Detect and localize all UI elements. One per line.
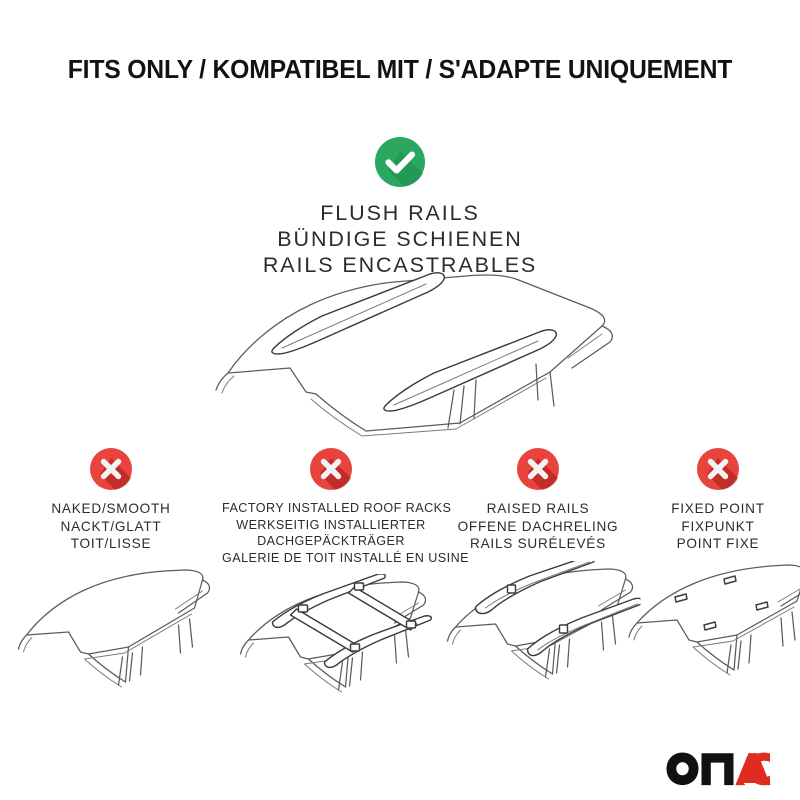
check-circle-icon: [374, 136, 426, 188]
option-label-en: NAKED/SMOOTH: [0, 500, 222, 518]
car-roof-fixed-point-illustration: [636, 561, 800, 693]
car-roof-naked-illustration: [0, 561, 222, 693]
option-label-fr: TOIT/LISSE: [0, 535, 222, 553]
option-labels: FACTORY INSTALLED ROOF RACKS WERKSEITIG …: [222, 500, 440, 566]
option-fixed-point: FIXED POINT FIXPUNKT POINT FIXE: [636, 447, 800, 693]
incompatible-options-grid: NAKED/SMOOTH NACKT/GLATT TOIT/LISSE: [0, 447, 800, 706]
x-circle-icon: [516, 447, 560, 491]
option-label-en: FIXED POINT: [636, 500, 800, 518]
x-circle-icon: [696, 447, 740, 491]
option-naked-smooth: NAKED/SMOOTH NACKT/GLATT TOIT/LISSE: [0, 447, 222, 693]
page-title: FITS ONLY / KOMPATIBEL MIT / S'ADAPTE UN…: [12, 56, 788, 85]
option-label-de: NACKT/GLATT: [0, 518, 222, 536]
option-label-fr: RAILS SURÉLEVÉS: [440, 535, 636, 553]
option-labels: FIXED POINT FIXPUNKT POINT FIXE: [636, 500, 800, 553]
omac-logo: [666, 752, 772, 786]
option-label-de-1: WERKSEITIG INSTALLIERTER: [222, 517, 440, 534]
car-roof-factory-racks-illustration: [222, 574, 440, 706]
compatible-label-de: BÜNDIGE SCHIENEN: [0, 226, 800, 252]
compatible-section: FLUSH RAILS BÜNDIGE SCHIENEN RAILS ENCAS…: [0, 136, 800, 278]
car-roof-flush-rails-illustration: [198, 268, 618, 443]
option-labels: RAISED RAILS OFFENE DACHRELING RAILS SUR…: [440, 500, 636, 553]
option-label-en: RAISED RAILS: [440, 500, 636, 518]
option-factory-installed-roof-racks: FACTORY INSTALLED ROOF RACKS WERKSEITIG …: [222, 447, 440, 706]
option-label-en: FACTORY INSTALLED ROOF RACKS: [222, 500, 440, 517]
x-circle-icon: [309, 447, 353, 491]
option-raised-rails: RAISED RAILS OFFENE DACHRELING RAILS SUR…: [440, 447, 636, 693]
option-label-fr: POINT FIXE: [636, 535, 800, 553]
compatible-label-en: FLUSH RAILS: [0, 200, 800, 226]
option-label-fr: GALERIE DE TOIT INSTALLÉ EN USINE: [222, 550, 440, 567]
compatible-labels: FLUSH RAILS BÜNDIGE SCHIENEN RAILS ENCAS…: [0, 200, 800, 278]
option-label-de: OFFENE DACHRELING: [440, 518, 636, 536]
x-circle-icon: [89, 447, 133, 491]
option-label-de: FIXPUNKT: [636, 518, 800, 536]
car-roof-raised-rails-illustration: [440, 561, 636, 693]
option-label-de-2: DACHGEPÄCKTRÄGER: [222, 533, 440, 550]
option-labels: NAKED/SMOOTH NACKT/GLATT TOIT/LISSE: [0, 500, 222, 553]
